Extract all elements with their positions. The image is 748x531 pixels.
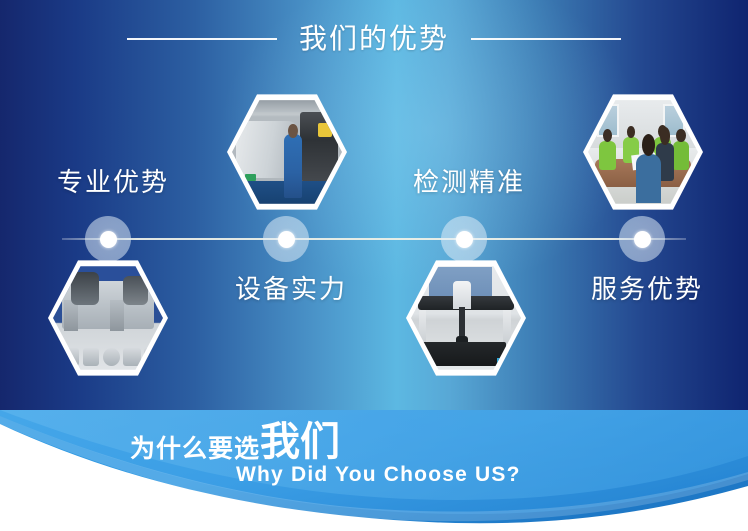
hex-photo-cmm bbox=[411, 263, 521, 373]
section-heading: 我们的优势 bbox=[0, 18, 748, 60]
advantage-label-equipment: 设备实力 bbox=[235, 276, 347, 302]
advantage-label-professional: 专业优势 bbox=[57, 169, 169, 195]
timeline-node-1 bbox=[85, 216, 131, 262]
advantage-label-service: 服务优势 bbox=[591, 276, 703, 302]
timeline-node-2 bbox=[263, 216, 309, 262]
advantage-section: 我们的优势 bbox=[0, 0, 748, 531]
wave-graphic bbox=[0, 410, 748, 531]
timeline-connector bbox=[62, 238, 686, 240]
advantage-hex-inspection-bottom[interactable] bbox=[406, 258, 526, 378]
advantage-hex-service-top[interactable] bbox=[583, 92, 703, 212]
timeline-node-3 bbox=[441, 216, 487, 262]
hex-photo-cnc bbox=[232, 97, 342, 207]
advantage-hex-equipment-top[interactable] bbox=[227, 92, 347, 212]
heading-rule-left bbox=[127, 38, 277, 40]
page-title: 我们的优势 bbox=[277, 25, 471, 53]
hex-photo-team-meeting bbox=[588, 97, 698, 207]
advantage-label-inspection: 检测精准 bbox=[413, 169, 525, 195]
timeline-node-4 bbox=[619, 216, 665, 262]
why-choose-us-banner: 为什么要选我们 Why Did You Choose US? bbox=[0, 410, 748, 531]
heading-rule-right bbox=[471, 38, 621, 40]
hex-photo-fixture-parts bbox=[53, 263, 163, 373]
advantage-hex-professional-bottom[interactable] bbox=[48, 258, 168, 378]
advantage-panel: 我们的优势 bbox=[0, 0, 748, 410]
